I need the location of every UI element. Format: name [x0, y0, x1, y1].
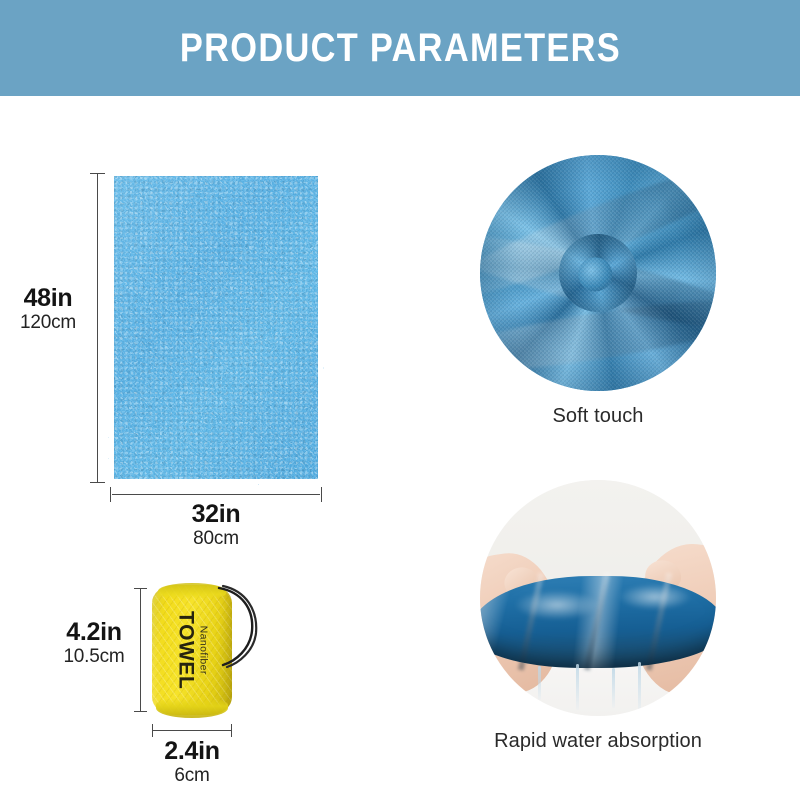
pouch-width-imperial: 2.4in [132, 737, 252, 765]
water-drip-4 [538, 666, 541, 700]
towel-height-imperial: 48in [6, 284, 90, 312]
water-absorption-photo [480, 480, 716, 716]
water-absorption-caption: Rapid water absorption [473, 730, 723, 753]
soft-touch-photo [480, 155, 716, 391]
water-drip-1 [576, 664, 579, 710]
pouch-height-tick-bottom [134, 711, 147, 712]
towel-height-label: 48in 120cm [6, 284, 90, 333]
fabric-vignette [480, 155, 716, 391]
pouch-width-dimension-line [153, 730, 231, 731]
pouch-product-image: Nanofiber TOWEL [152, 585, 232, 715]
feature-soft-touch: Soft touch [473, 155, 723, 428]
soft-touch-caption: Soft touch [473, 405, 723, 428]
pouch-height-imperial: 4.2in [52, 618, 136, 646]
pouch-width-tick-left [152, 724, 153, 737]
water-drip-3 [638, 662, 641, 714]
towel-twist-line-2 [584, 573, 611, 671]
pouch-brand-text: Nanofiber [198, 625, 209, 674]
towel-width-tick-left [110, 487, 111, 502]
towel-height-metric: 120cm [6, 312, 90, 333]
page-title: PRODUCT PARAMETERS [179, 28, 620, 68]
pouch-width-tick-right [231, 724, 232, 737]
towel-height-dimension-line [97, 174, 98, 482]
pouch-product-text: TOWEL [176, 611, 197, 689]
pouch-height-tick-top [134, 588, 147, 589]
towel-height-tick-bottom [90, 482, 105, 483]
wet-twisted-towel [480, 576, 716, 668]
pouch-width-metric: 6cm [132, 765, 252, 786]
product-parameters-infographic: PRODUCT PARAMETERS 48in 120cm 32in 80cm … [0, 0, 800, 800]
pouch-height-label: 4.2in 10.5cm [52, 618, 136, 667]
header-band: PRODUCT PARAMETERS [0, 0, 800, 96]
towel-width-tick-right [321, 487, 322, 502]
towel-product-image [110, 172, 322, 483]
towel-wet-highlight-2 [618, 584, 692, 610]
pouch-label-text-rotated: Nanofiber TOWEL [176, 611, 209, 689]
towel-width-label: 32in 80cm [148, 500, 284, 549]
towel-wet-highlight-1 [514, 590, 600, 620]
water-drip-2 [612, 668, 615, 708]
towel-width-imperial: 32in [148, 500, 284, 528]
feature-water-absorption: Rapid water absorption [473, 480, 723, 753]
towel-width-metric: 80cm [148, 528, 284, 549]
pouch-width-label: 2.4in 6cm [132, 737, 252, 786]
towel-height-tick-top [90, 173, 105, 174]
pouch-height-metric: 10.5cm [52, 646, 136, 667]
pouch-label: Nanofiber TOWEL [152, 585, 232, 715]
pouch-height-dimension-line [140, 588, 141, 712]
towel-twist-line-1 [518, 573, 545, 671]
towel-fabric-surface [110, 172, 322, 483]
towel-width-dimension-line [112, 494, 320, 495]
